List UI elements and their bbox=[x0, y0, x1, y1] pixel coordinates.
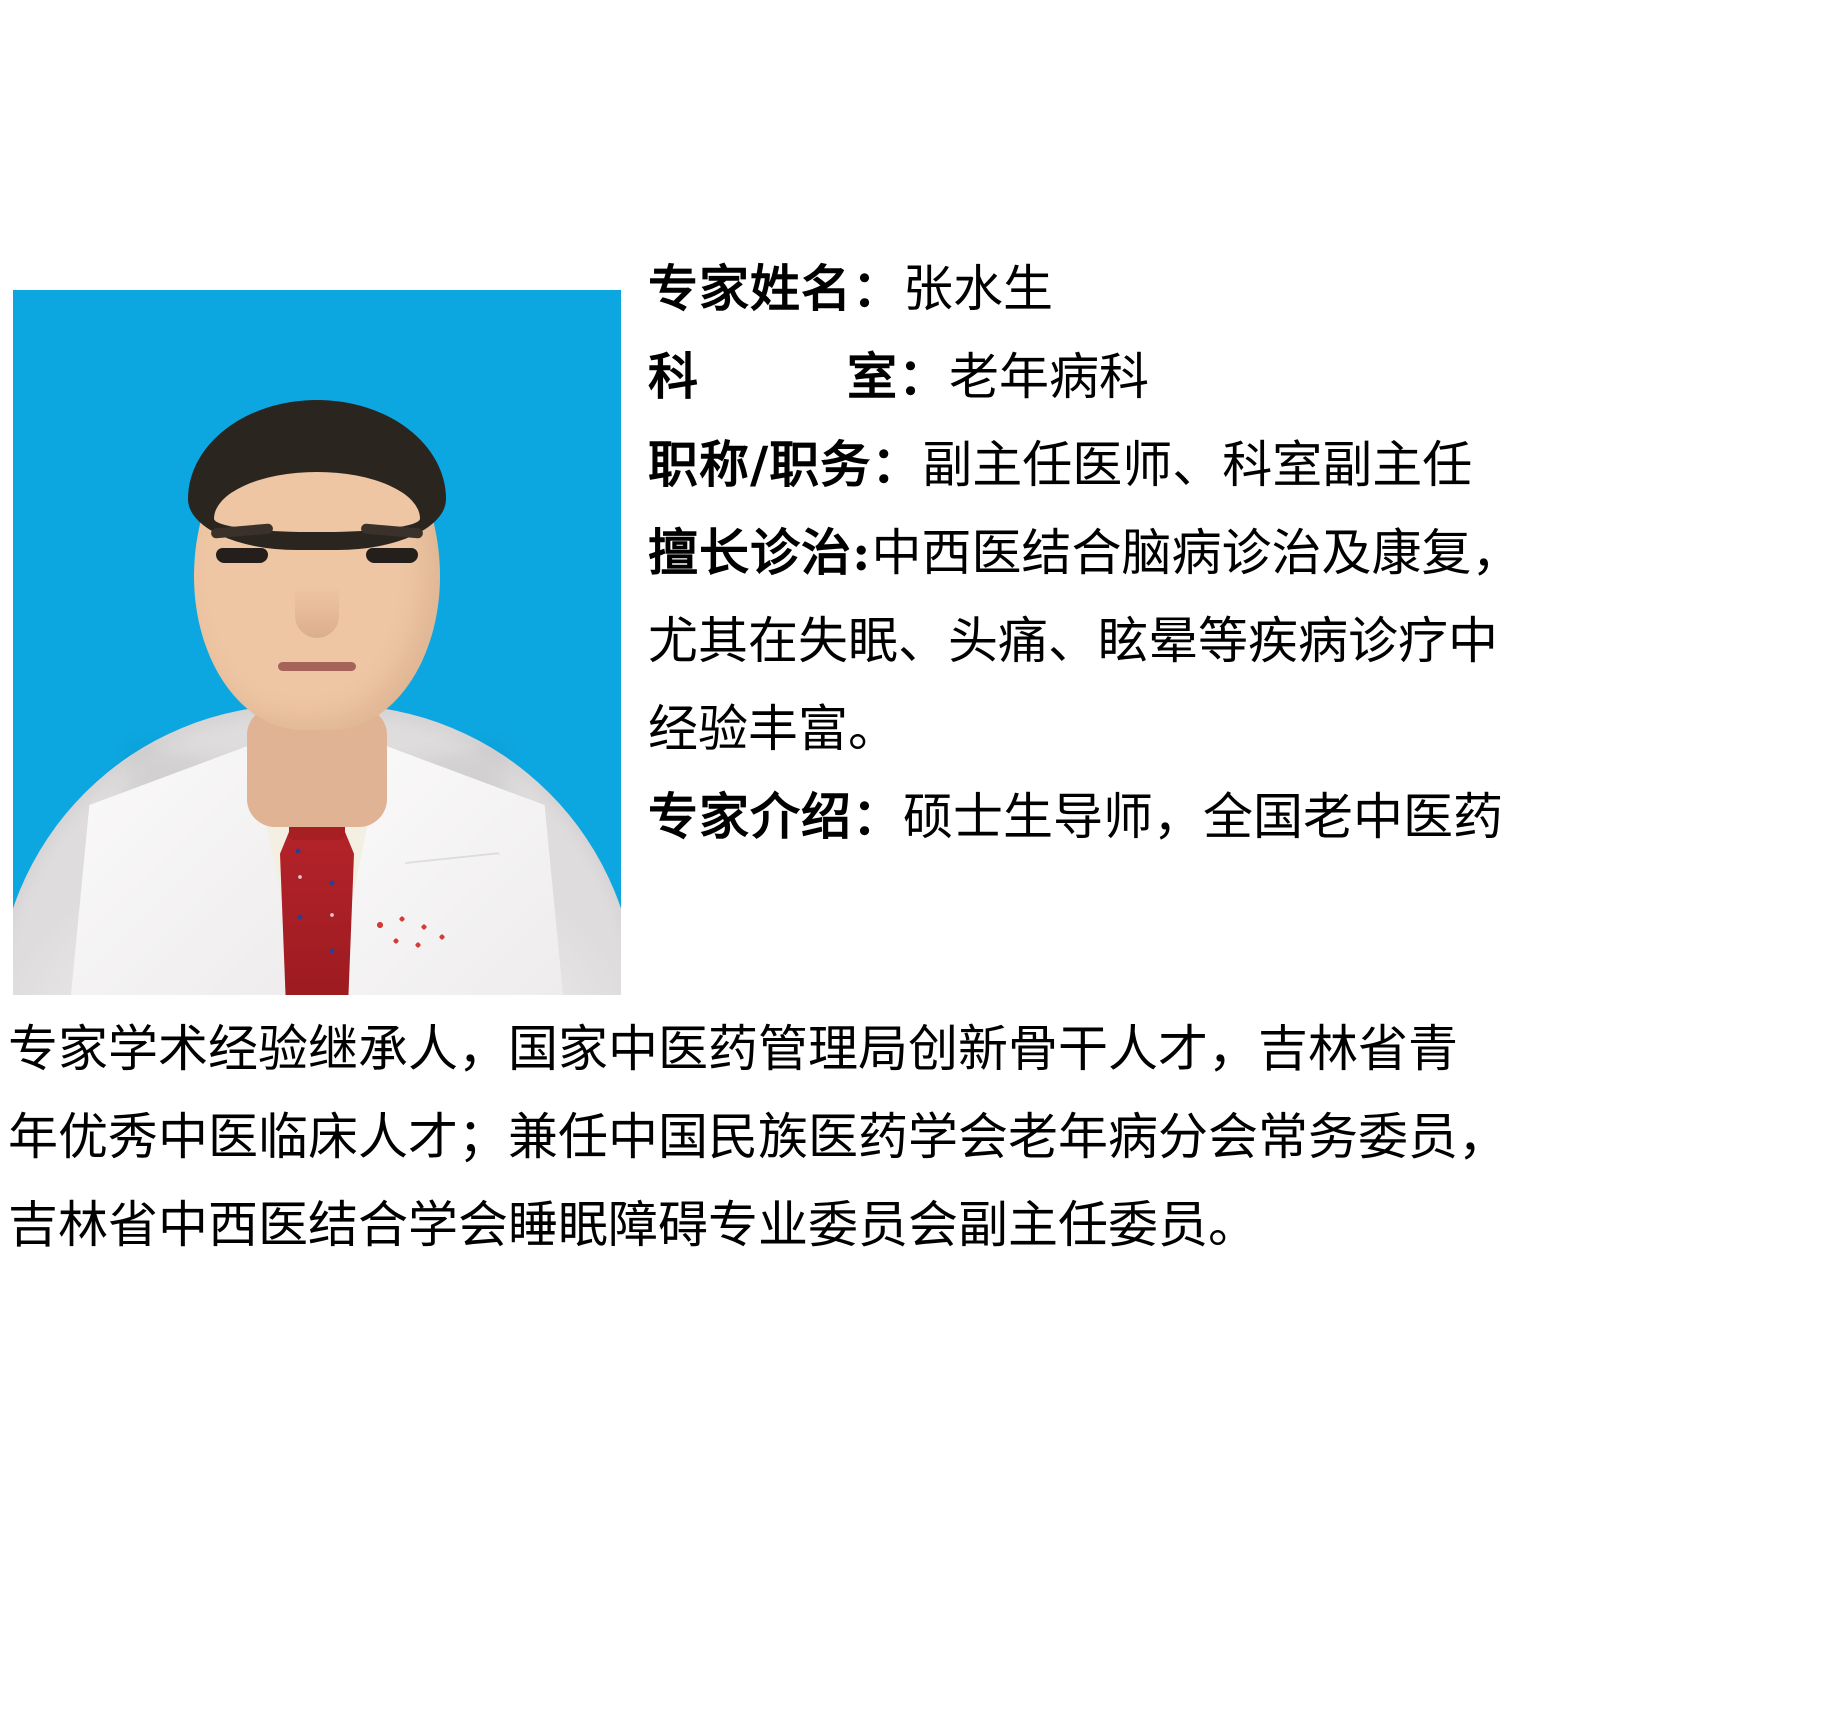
nose bbox=[295, 586, 339, 638]
field-department: 科 室 ： 老年病科 bbox=[648, 333, 1828, 421]
field-intro-value-1: 硕士生导师，全国老中医药 bbox=[903, 788, 1503, 846]
coat-logo-emblem bbox=[366, 913, 454, 953]
field-intro-line-1: 专家介绍：硕士生导师，全国老中医药 bbox=[648, 773, 1823, 861]
field-intro-label: 专家介绍： bbox=[648, 787, 903, 846]
field-specialty-label: 擅长诊治: bbox=[648, 523, 871, 582]
field-department-label: 科 室 bbox=[648, 333, 898, 421]
eye-left bbox=[216, 548, 268, 563]
necktie-pattern bbox=[280, 825, 354, 995]
doctor-portrait-photo bbox=[13, 290, 621, 995]
field-specialty: 擅长诊治:中西医结合脑病诊治及康复， 尤其在失眠、头痛、眩晕等疾病诊疗中 经验丰… bbox=[648, 509, 1823, 773]
necktie bbox=[280, 825, 354, 995]
field-specialty-line-1: 擅长诊治:中西医结合脑病诊治及康复， bbox=[648, 509, 1823, 597]
field-name-value: 张水生 bbox=[903, 245, 1053, 333]
doctor-info-block: 专家姓名： 张水生 科 室 ： 老年病科 职称/职务： 副主任医师、科室副主任 … bbox=[648, 245, 1828, 861]
field-specialty-line-3: 经验丰富。 bbox=[648, 685, 1823, 773]
field-department-colon: ： bbox=[898, 333, 949, 421]
field-intro-continuation: 专家学术经验继承人，国家中医药管理局创新骨干人才，吉林省青 年优秀中医临床人才；… bbox=[8, 1005, 1828, 1269]
field-intro-line-4: 吉林省中西医结合学会睡眠障碍专业委员会副主任委员。 bbox=[8, 1181, 1828, 1269]
field-intro-head: 专家介绍：硕士生导师，全国老中医药 bbox=[648, 773, 1823, 861]
eye-right bbox=[366, 548, 418, 563]
field-intro-line-2: 专家学术经验继承人，国家中医药管理局创新骨干人才，吉林省青 bbox=[8, 1005, 1828, 1093]
field-title-value: 副主任医师、科室副主任 bbox=[922, 421, 1472, 509]
field-name: 专家姓名： 张水生 bbox=[648, 245, 1828, 333]
field-specialty-value-1: 中西医结合脑病诊治及康复， bbox=[871, 524, 1521, 582]
field-intro-line-3: 年优秀中医临床人才；兼任中国民族医药学会老年病分会常务委员， bbox=[8, 1093, 1828, 1181]
field-specialty-line-2: 尤其在失眠、头痛、眩晕等疾病诊疗中 bbox=[648, 597, 1823, 685]
field-title: 职称/职务： 副主任医师、科室副主任 bbox=[648, 421, 1828, 509]
field-department-value: 老年病科 bbox=[949, 333, 1149, 421]
field-name-label: 专家姓名： bbox=[648, 245, 903, 333]
field-title-label: 职称/职务： bbox=[648, 421, 922, 509]
mouth bbox=[278, 662, 356, 671]
doctor-profile-card: 专家姓名： 张水生 科 室 ： 老年病科 职称/职务： 副主任医师、科室副主任 … bbox=[0, 0, 1835, 1715]
